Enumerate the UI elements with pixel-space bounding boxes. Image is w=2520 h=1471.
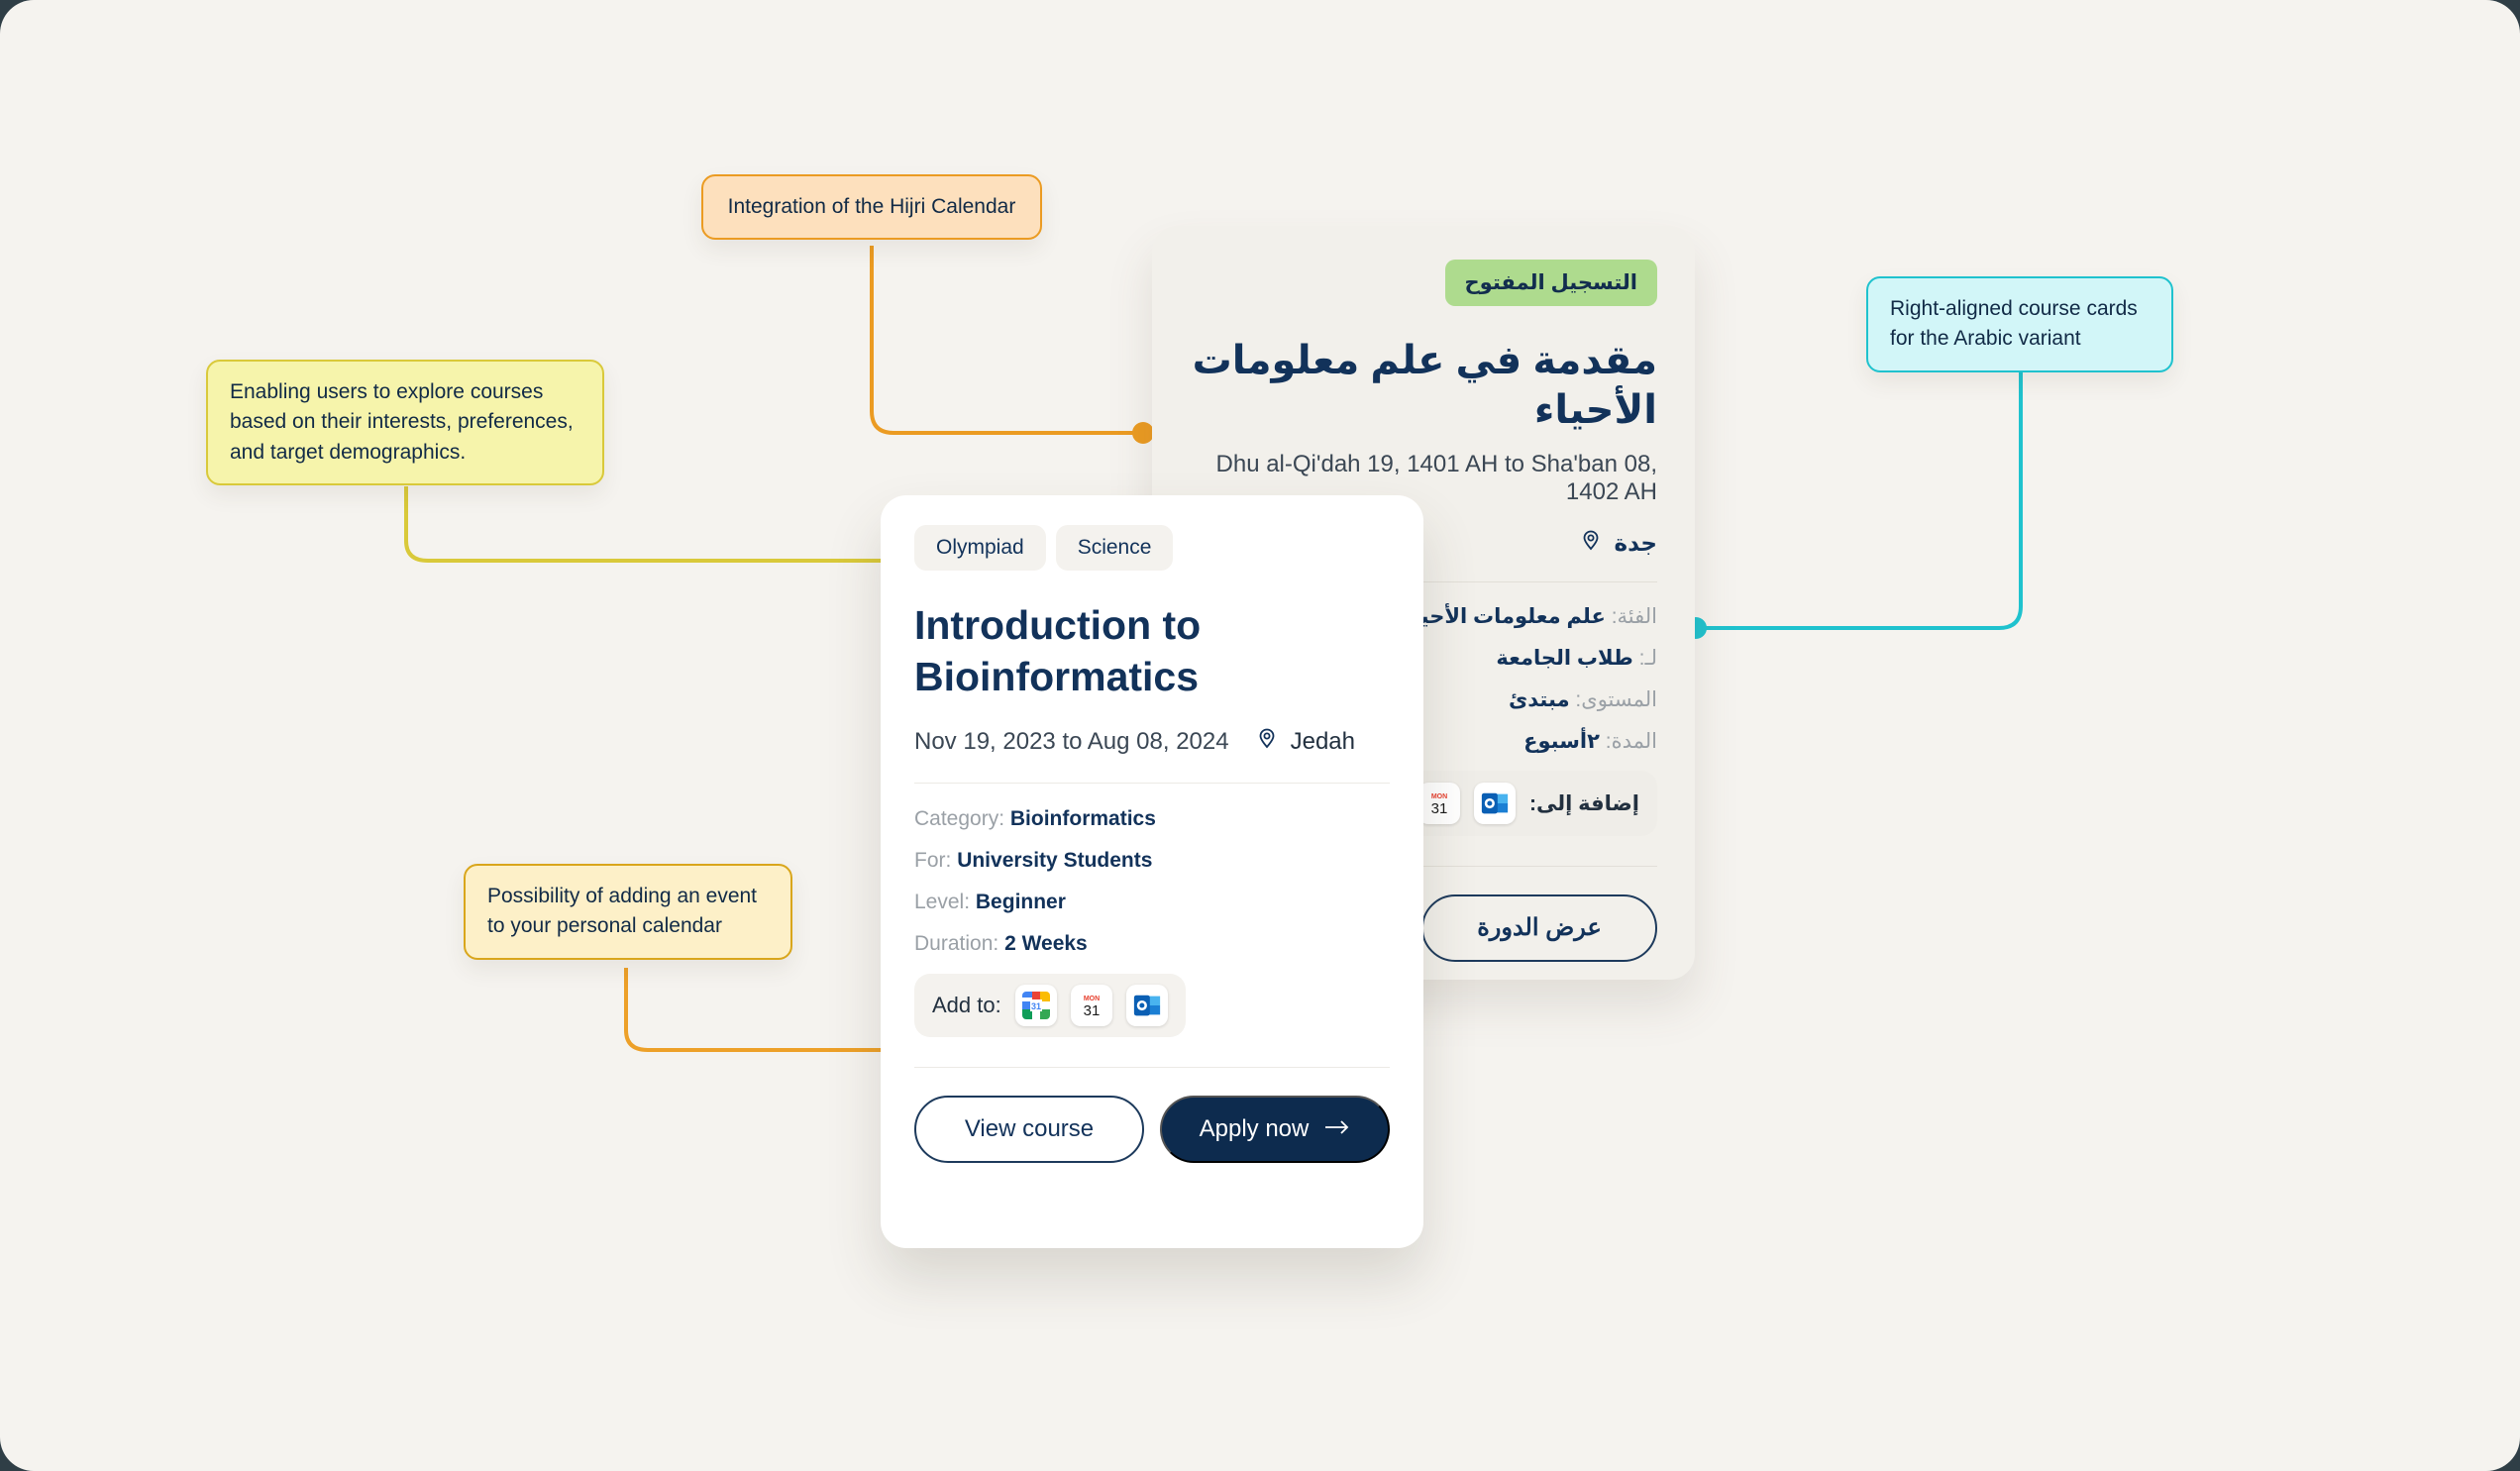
meta-label: Category: <box>914 807 1004 830</box>
meta-label: المدة: <box>1606 730 1657 753</box>
status-badge-arabic: التسجيل المفتوح <box>1445 260 1657 306</box>
tag-olympiad[interactable]: Olympiad <box>914 525 1046 571</box>
callout-calendar-text: Possibility of adding an event to your p… <box>487 885 757 937</box>
table-row: For: University Students <box>914 849 1390 873</box>
callout-right-aligned-cards: Right-aligned course cards for the Arabi… <box>1866 276 2173 372</box>
callout-hijri-calendar: Integration of the Hijri Calendar <box>701 174 1042 240</box>
add-to-label-arabic: إضافة إلى: <box>1529 791 1639 816</box>
callout-personal-calendar: Possibility of adding an event to your p… <box>464 864 792 960</box>
google-calendar-icon[interactable]: 31 <box>1015 985 1057 1026</box>
date-range-label: Nov 19, 2023 to Aug 08, 2024 <box>914 728 1229 756</box>
view-course-button[interactable]: View course <box>914 1096 1144 1163</box>
divider-english-bottom <box>914 1067 1390 1068</box>
apple-calendar-icon[interactable]: MON 31 <box>1418 783 1460 824</box>
table-row: Category: Bioinformatics <box>914 807 1390 831</box>
location-label-english: Jedah <box>1291 728 1355 756</box>
course-location-english: Jedah <box>1255 726 1355 757</box>
meta-label: المستوى: <box>1575 688 1657 711</box>
arrow-right-icon <box>1324 1115 1350 1143</box>
meta-value: University Students <box>957 849 1152 872</box>
meta-value: علم معلومات الأحياء <box>1403 605 1606 628</box>
divider-english-top <box>914 783 1390 784</box>
wire-explore <box>406 486 892 561</box>
wire-hijri <box>872 246 1141 433</box>
svg-text:31: 31 <box>1431 800 1448 817</box>
course-meta-english: Category: Bioinformatics For: University… <box>914 807 1390 956</box>
location-label-arabic: جدة <box>1615 530 1657 557</box>
course-card-english: Olympiad Science Introduction to Bioinfo… <box>881 495 1423 1248</box>
meta-value: مبتدئ <box>1509 688 1570 711</box>
apply-now-label: Apply now <box>1200 1115 1310 1143</box>
card-actions: View course Apply now <box>914 1096 1390 1163</box>
view-course-button-arabic[interactable]: عرض الدورة <box>1421 894 1657 962</box>
meta-value: ٢أسبوع <box>1523 730 1600 753</box>
outlook-calendar-icon[interactable] <box>1126 985 1168 1026</box>
meta-label: لـ: <box>1639 647 1657 670</box>
course-title-english: Introduction to Bioinformatics <box>914 600 1390 702</box>
apple-calendar-icon[interactable]: MON 31 <box>1071 985 1112 1026</box>
callout-explore-text: Enabling users to explore courses based … <box>230 380 574 464</box>
table-row: Level: Beginner <box>914 891 1390 914</box>
svg-text:31: 31 <box>1031 1001 1041 1011</box>
annotated-mockup-canvas: Integration of the Hijri Calendar Enabli… <box>0 0 2520 1471</box>
wire-rtl <box>1702 372 2021 628</box>
wire-calendar <box>626 968 899 1050</box>
svg-text:MON: MON <box>1431 793 1447 800</box>
course-title-arabic: مقدمة في علم معلومات الأحياء <box>1190 336 1657 435</box>
meta-label: Level: <box>914 891 970 913</box>
meta-value: طلاب الجامعة <box>1496 647 1632 670</box>
callout-rtl-text: Right-aligned course cards for the Arabi… <box>1890 297 2138 350</box>
callout-explore-courses: Enabling users to explore courses based … <box>206 360 604 485</box>
course-dates-english: Nov 19, 2023 to Aug 08, 2024 Jedah <box>914 726 1390 757</box>
meta-value: Beginner <box>976 891 1066 913</box>
svg-text:31: 31 <box>1083 1002 1100 1019</box>
meta-label: Duration: <box>914 932 998 955</box>
meta-value: 2 Weeks <box>1004 932 1088 955</box>
table-row: Duration: 2 Weeks <box>914 932 1390 956</box>
tag-science[interactable]: Science <box>1056 525 1174 571</box>
outlook-calendar-icon[interactable] <box>1474 783 1516 824</box>
meta-value: Bioinformatics <box>1010 807 1156 830</box>
location-pin-icon <box>1255 726 1279 757</box>
add-to-label-english: Add to: <box>932 993 1001 1018</box>
apply-now-button[interactable]: Apply now <box>1160 1096 1390 1163</box>
location-pin-icon <box>1579 528 1603 558</box>
callout-hijri-text: Integration of the Hijri Calendar <box>728 195 1016 218</box>
add-to-calendar-row-english: Add to: 31 MON 31 <box>914 974 1186 1037</box>
svg-text:MON: MON <box>1084 996 1100 1002</box>
meta-label: For: <box>914 849 951 872</box>
wire-dot-hijri <box>1132 422 1154 444</box>
meta-label: الفئة: <box>1612 605 1657 628</box>
course-tags: Olympiad Science <box>914 525 1390 571</box>
